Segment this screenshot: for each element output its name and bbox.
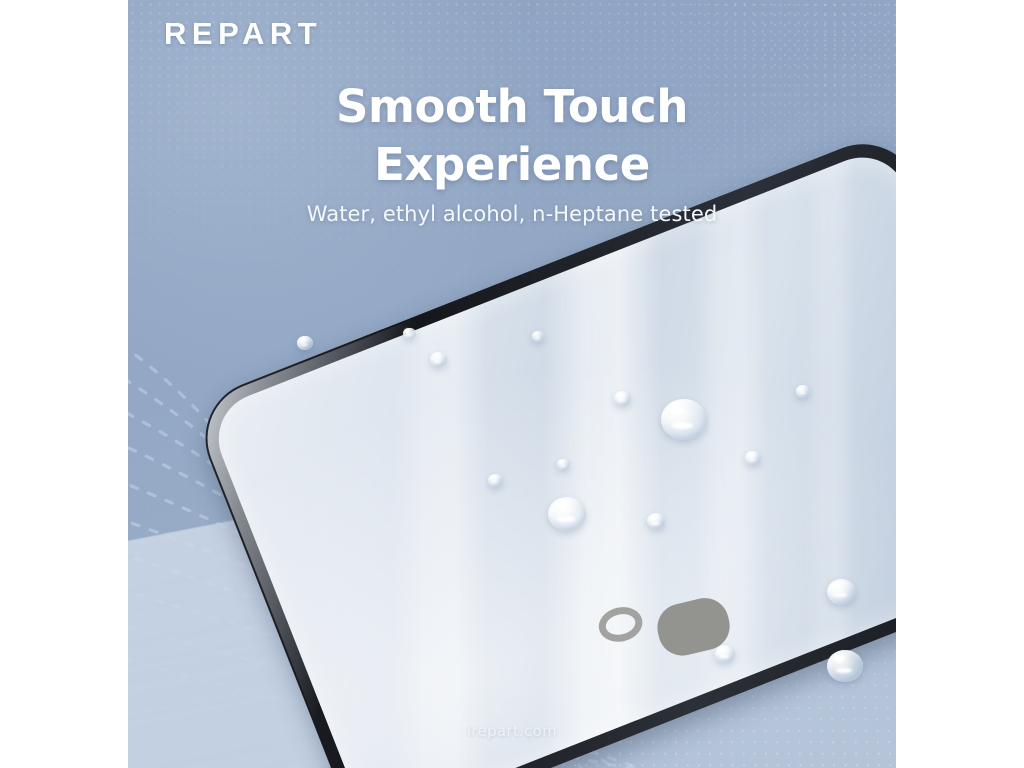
headline-line-1: Smooth Touch [336,80,688,133]
website-url: irepart.com [128,722,896,740]
artboard: REPART Smooth Touch Experience Water, et… [128,0,896,768]
text-overlay: REPART Smooth Touch Experience Water, et… [128,0,896,768]
poster-page: REPART Smooth Touch Experience Water, et… [0,0,1024,768]
subtitle: Water, ethyl alcohol, n-Heptane tested [128,202,896,226]
brand-logo: REPART [164,16,322,52]
page-title: Smooth Touch Experience [128,78,896,193]
headline-line-2: Experience [128,136,896,194]
